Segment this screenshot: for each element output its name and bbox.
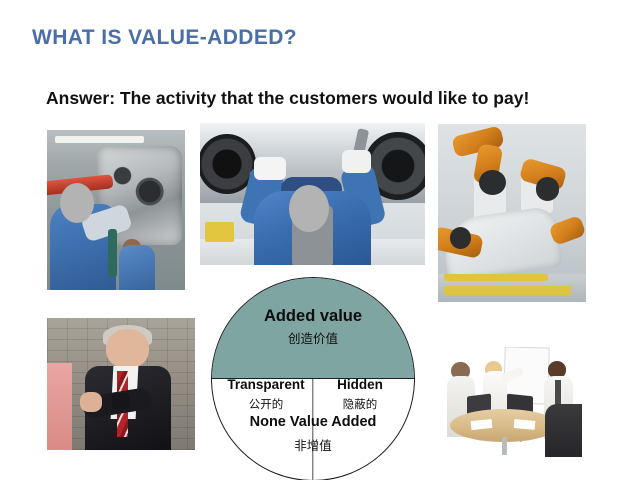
glove-left [254,157,286,180]
photo-manager-watch [47,318,195,450]
label-added-value: Added value [211,307,415,326]
photo-manager-watch-scene [47,318,195,450]
paper-sheet [471,419,493,430]
slide-canvas: WHAT IS VALUE-ADDED? [0,0,640,480]
ceiling-lamp-icon [55,136,143,142]
answer-text: Answer: The activity that the customers … [46,86,546,111]
glove-right [342,150,371,173]
pneumatic-tool [108,229,118,277]
paper-sheet [513,419,535,430]
photo-meeting-room-scene [440,347,582,457]
label-hidden-chinese: 隐蔽的 [313,396,407,412]
page-title: WHAT IS VALUE-ADDED? [32,26,297,50]
face-redaction-blob [289,185,329,232]
label-transparent-chinese: 公开的 [219,396,313,412]
value-added-circle-diagram: Added value 创造价值 Transparent 公开的 Hidden … [211,277,415,480]
attendee-right-tie [555,380,561,406]
photo-meeting-room [440,347,582,457]
second-worker-body [119,245,155,290]
label-none-value-added: None Value Added [211,414,415,430]
attendee-foreground-body [545,404,582,457]
label-transparent: Transparent [219,377,313,392]
label-added-value-chinese: 创造价值 [211,328,415,347]
robot-joint [450,227,471,248]
label-hidden: Hidden [313,377,407,392]
label-none-value-added-chinese: 非增值 [211,435,415,454]
yellow-conveyor-rail [444,286,571,295]
photo-robot-arms-scene [438,124,586,302]
photo-robot-arms [438,124,586,302]
table-leg [502,437,506,455]
foreground-person [47,363,72,450]
manager-hand [80,392,102,412]
robot-joint [536,177,560,200]
manager-head [106,329,149,369]
face-redaction-blob [60,183,94,223]
yellow-conveyor-rail [444,274,548,281]
yellow-safety-rail [205,222,234,242]
wristwatch-icon [112,393,130,409]
